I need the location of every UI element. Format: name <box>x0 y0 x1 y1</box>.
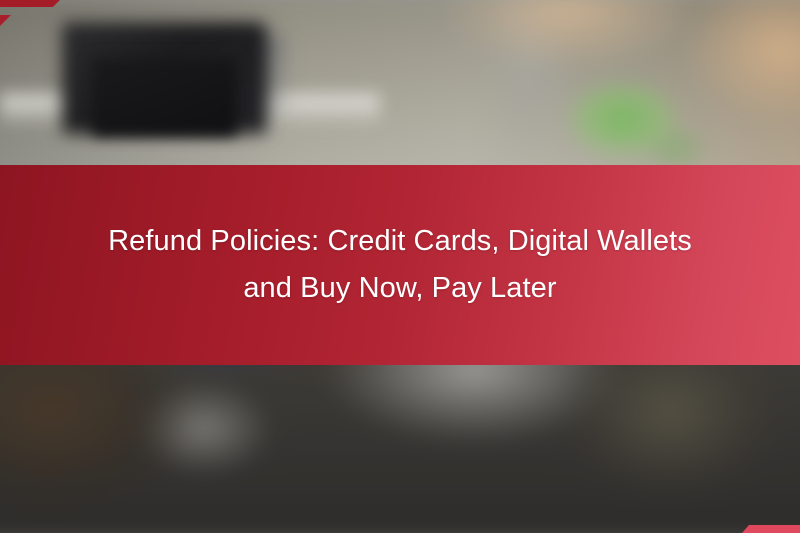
page-title-line-1: Refund Policies: Credit Cards, Digital W… <box>108 225 692 257</box>
printer-device-body-blur <box>92 58 237 136</box>
page-title: Refund Policies: Credit Cards, Digital W… <box>70 218 730 312</box>
bottom-right-accent-bar-shape <box>742 525 800 533</box>
hero-banner-image: Refund Policies: Credit Cards, Digital W… <box>0 0 800 533</box>
title-banner: Refund Policies: Credit Cards, Digital W… <box>0 165 800 365</box>
top-left-accent-bar-shape <box>0 0 60 7</box>
page-title-line-2: and Buy Now, Pay Later <box>243 272 556 304</box>
